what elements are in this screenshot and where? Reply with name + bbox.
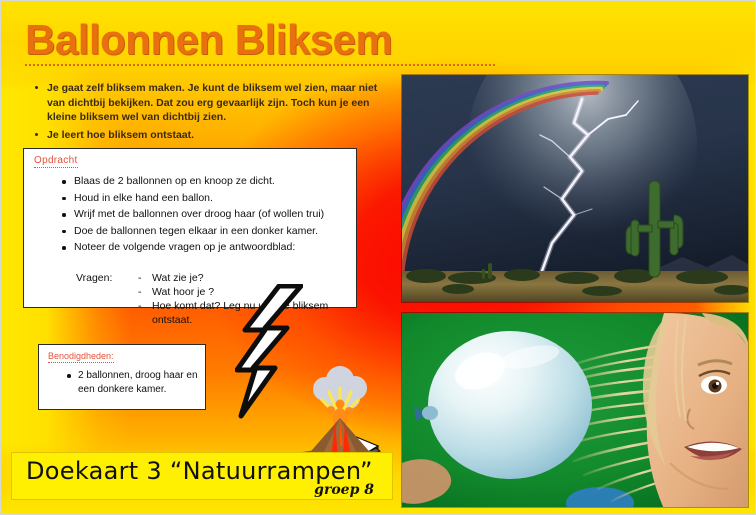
opdracht-heading: Opdracht	[34, 155, 78, 168]
dash-bullet: -	[138, 299, 152, 313]
benodigdheden-heading: Benodigdheden:	[48, 351, 114, 363]
dash-bullet: -	[138, 285, 152, 299]
slide-canvas: Ballonnen Bliksem Je gaat zelf bliksem m…	[0, 0, 756, 515]
vragen-text: Wat hoor je ?	[152, 286, 214, 298]
balloon-photo	[401, 312, 749, 508]
banner-subtitle: groep 8	[314, 482, 374, 498]
vragen-label: Vragen:	[76, 271, 112, 285]
opdracht-step: Wrijf met de ballonnen over droog haar (…	[60, 208, 348, 221]
opdracht-step: Doe de ballonnen tegen elkaar in een don…	[60, 225, 348, 238]
lightning-photo	[401, 74, 749, 303]
benodigdheden-list: 2 ballonnen, droog haar en een donkere k…	[65, 369, 199, 397]
vragen-item: -Wat zie je?	[138, 271, 328, 285]
intro-bullet: Je leert hoe bliksem ontstaat.	[31, 128, 387, 143]
erupting-volcano-icon	[285, 366, 395, 466]
opdracht-box: Opdracht Blaas de 2 ballonnen op en knoo…	[23, 148, 357, 308]
benodigdheden-box: Benodigdheden: 2 ballonnen, droog haar e…	[38, 344, 206, 410]
opdracht-step: Houd in elke hand een ballon.	[60, 192, 348, 205]
opdracht-step: Blaas de 2 ballonnen op en knoop ze dich…	[60, 175, 348, 188]
intro-bullet-list: Je gaat zelf bliksem maken. Je kunt de b…	[31, 81, 387, 145]
vragen-text: Wat zie je?	[152, 272, 204, 284]
slide-title: Ballonnen Bliksem	[25, 19, 495, 66]
opdracht-step: Noteer de volgende vragen op je antwoord…	[60, 241, 348, 254]
banner-title: Doekaart 3 “Natuurrampen”	[26, 457, 373, 485]
intro-bullet: Je gaat zelf bliksem maken. Je kunt de b…	[31, 81, 387, 125]
lightning-photo-content	[402, 75, 749, 303]
opdracht-step-list: Blaas de 2 ballonnen op en knoop ze dich…	[60, 175, 348, 258]
bottom-banner: Doekaart 3 “Natuurrampen” groep 8	[11, 452, 393, 500]
dash-bullet: -	[138, 271, 152, 285]
benodigdheden-item: 2 ballonnen, droog haar en een donkere k…	[65, 369, 199, 397]
balloon-photo-content	[402, 313, 749, 508]
